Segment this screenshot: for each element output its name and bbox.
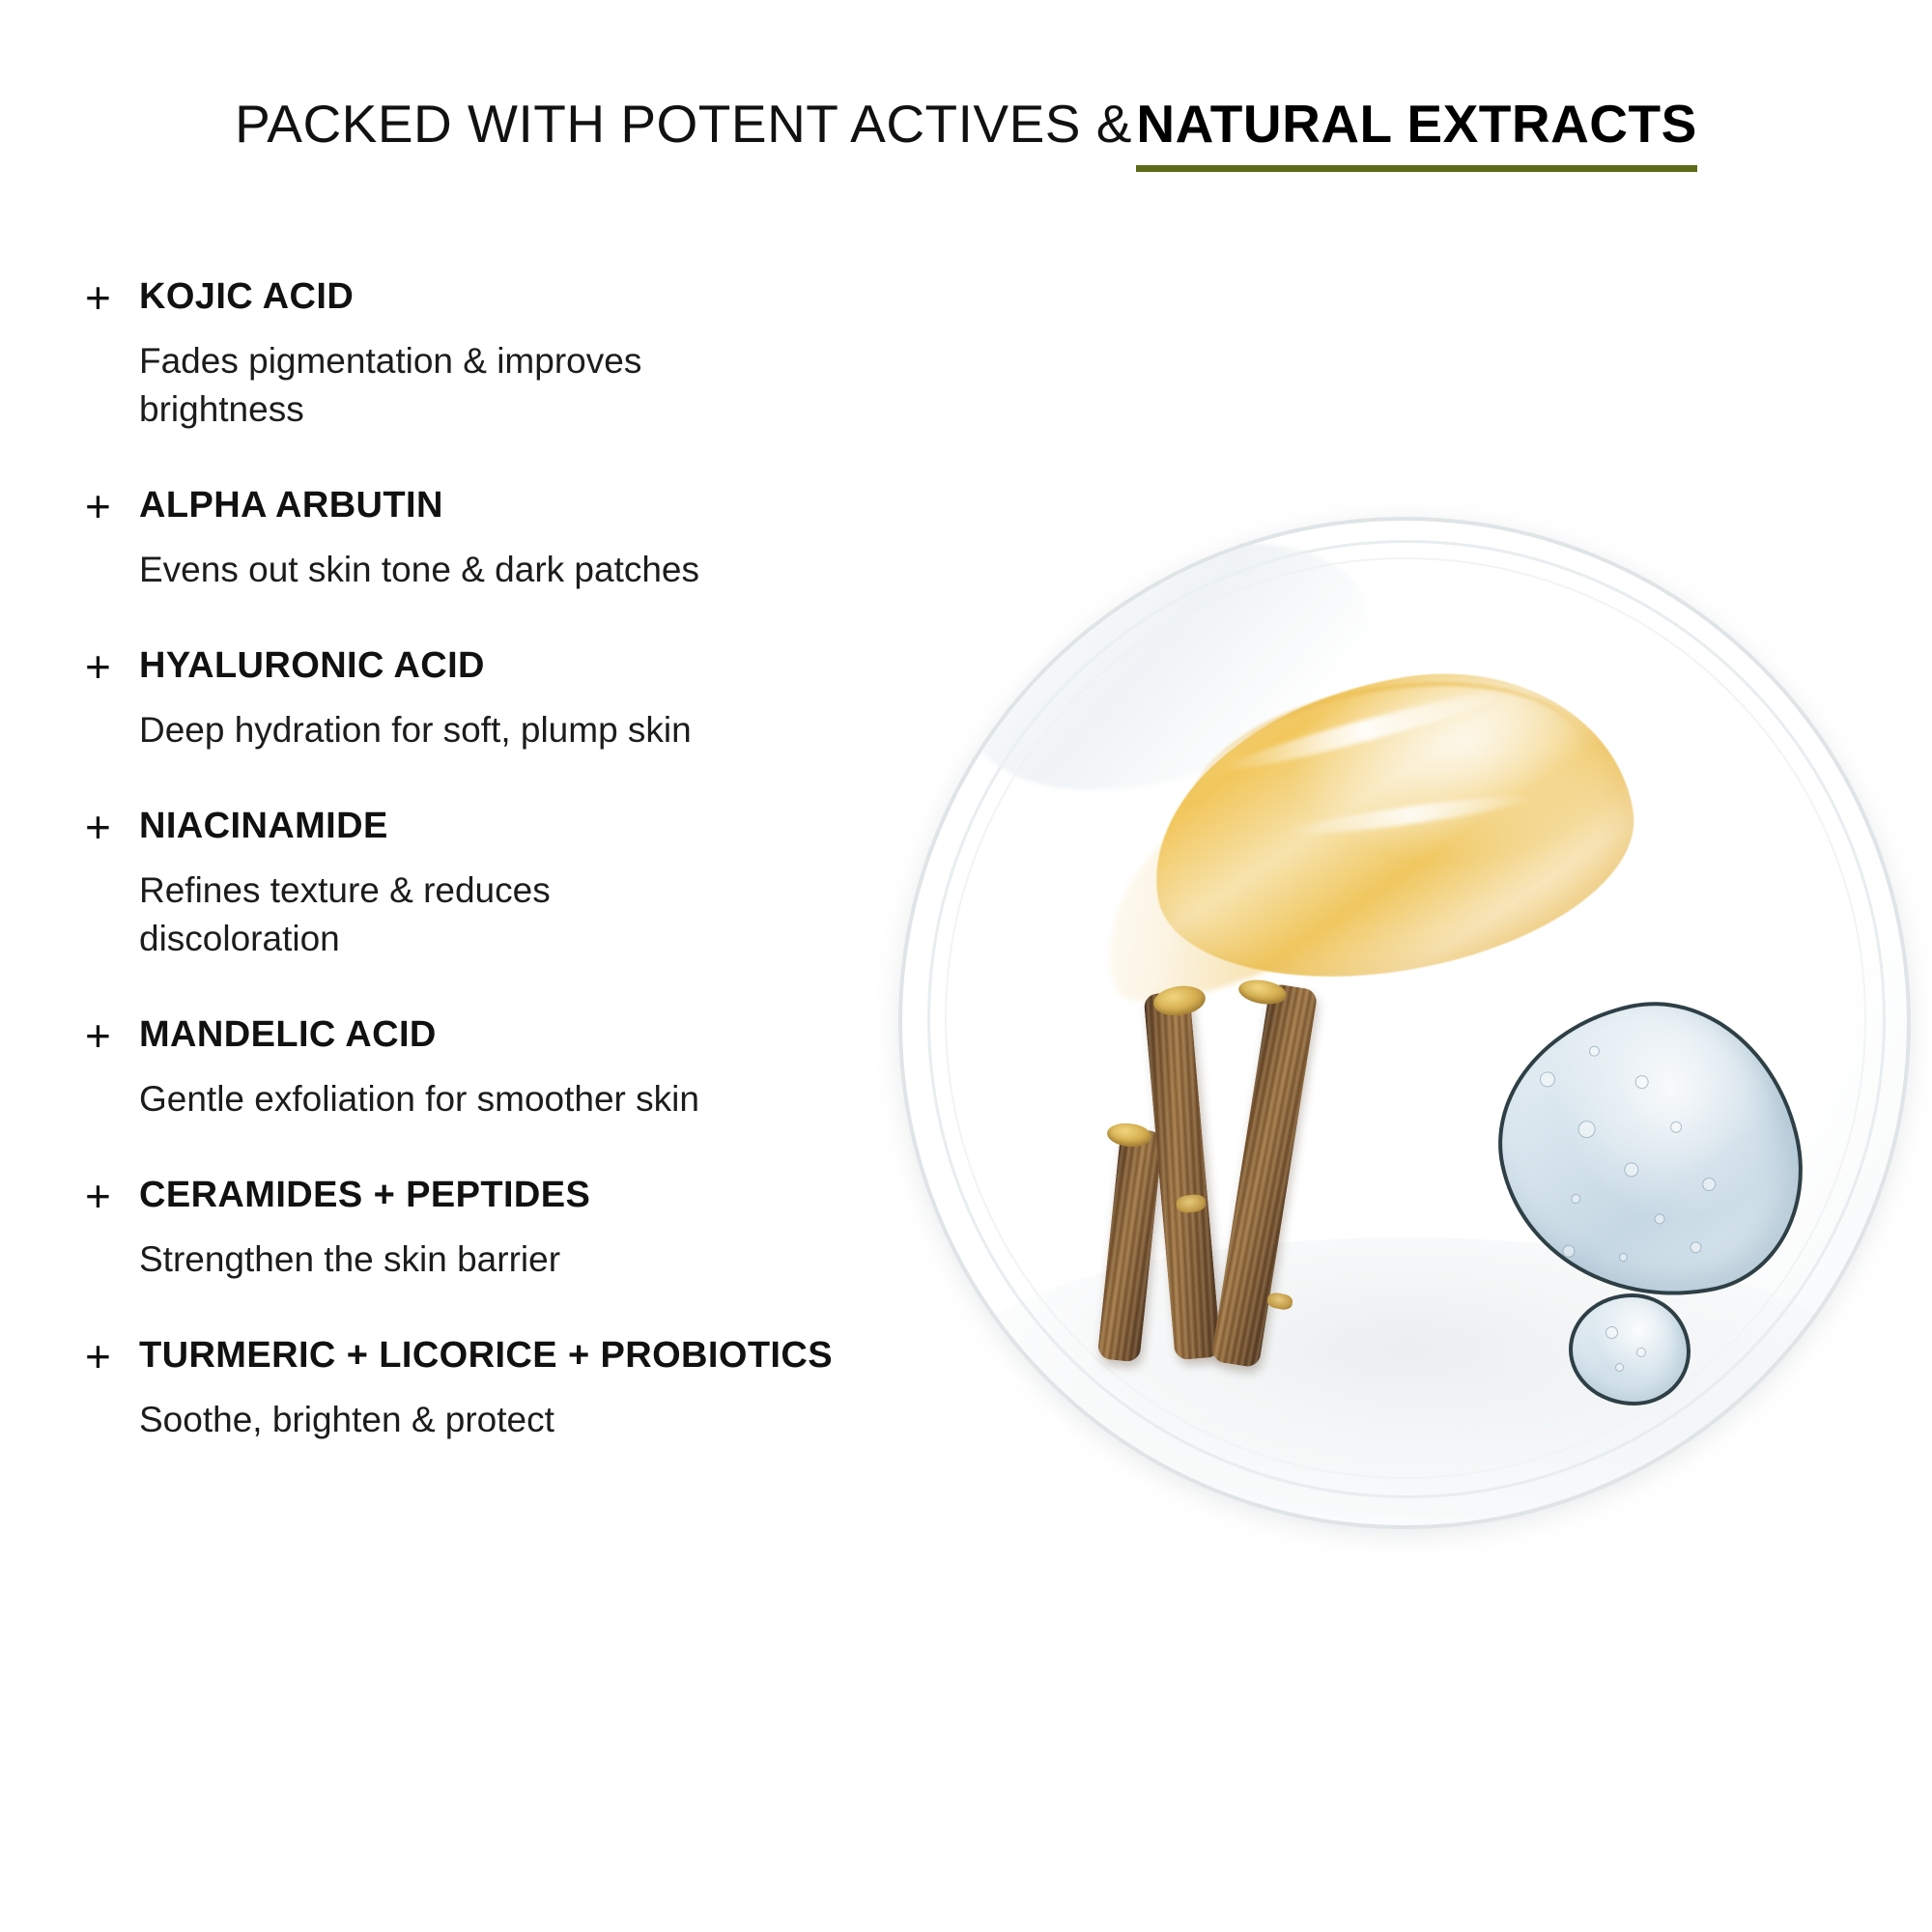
ingredient-description: Evens out skin tone & dark patches [139,546,796,594]
gel-bubble [1588,1045,1601,1058]
petri-dish [898,517,1911,1529]
list-item-head: + ALPHA ARBUTIN [85,484,954,528]
list-item: + NIACINAMIDE Refines texture & reduces … [85,805,954,963]
ingredient-description: Strengthen the skin barrier [139,1236,796,1284]
page-title: PACKED WITH POTENT ACTIVES & NATURAL EXT… [0,93,1932,155]
gel-bubble [1618,1252,1629,1263]
licorice-root-stick [1210,983,1318,1369]
plus-icon: + [85,644,139,689]
list-item-head: + HYALURONIC ACID [85,644,954,689]
ingredient-list: + KOJIC ACID Fades pigmentation & improv… [85,275,954,1494]
blue-gel-droplet [1569,1293,1690,1406]
gel-bubble [1689,1240,1702,1254]
ingredient-name: KOJIC ACID [139,275,354,318]
ingredient-name: HYALURONIC ACID [139,644,485,687]
ingredient-description: Refines texture & reduces discoloration [139,867,680,963]
licorice-root-notch [1266,1292,1293,1311]
list-item: + ALPHA ARBUTIN Evens out skin tone & da… [85,484,954,594]
gel-bubble [1570,1193,1581,1205]
gel-bubble [1701,1177,1718,1193]
list-item: + KOJIC ACID Fades pigmentation & improv… [85,275,954,434]
plus-icon: + [85,805,139,849]
list-item-head: + NIACINAMIDE [85,805,954,849]
ingredient-description: Gentle exfoliation for smoother skin [139,1075,767,1123]
licorice-root-stick [1097,1127,1164,1362]
plus-icon: + [85,484,139,528]
ingredient-description: Deep hydration for soft, plump skin [139,706,796,754]
list-item-head: + TURMERIC + LICORICE + PROBIOTICS [85,1334,954,1378]
gel-bubble [1561,1244,1576,1259]
gel-bubble [1669,1121,1683,1134]
plus-icon: + [85,1334,139,1378]
page-title-strong: NATURAL EXTRACTS [1136,94,1696,172]
list-item-head: + CERAMIDES + PEPTIDES [85,1174,954,1218]
ingredient-description: Fades pigmentation & improves brightness [139,337,796,434]
ingredient-name: TURMERIC + LICORICE + PROBIOTICS [139,1334,833,1377]
gel-bubble [1654,1212,1666,1225]
gel-bubble [1605,1326,1618,1339]
list-item: + TURMERIC + LICORICE + PROBIOTICS Sooth… [85,1334,954,1444]
gel-bubble [1634,1074,1650,1091]
petri-dish-image [898,517,1932,1555]
plus-icon: + [85,1174,139,1218]
gel-bubble [1577,1119,1597,1139]
page-title-light: PACKED WITH POTENT ACTIVES & [235,94,1132,154]
gel-bubble [1538,1070,1556,1089]
ingredient-name: NIACINAMIDE [139,805,388,847]
serum-swatch [1086,644,1646,1021]
list-item-head: + KOJIC ACID [85,275,954,320]
ingredient-name: MANDELIC ACID [139,1013,437,1056]
ingredient-name: ALPHA ARBUTIN [139,484,443,526]
licorice-root-group [1095,984,1414,1361]
ingredient-description: Soothe, brighten & protect [139,1396,796,1444]
gel-bubble [1623,1161,1640,1179]
list-item-head: + MANDELIC ACID [85,1013,954,1058]
gel-bubble [1615,1363,1624,1372]
ingredient-name: CERAMIDES + PEPTIDES [139,1174,590,1216]
list-item: + MANDELIC ACID Gentle exfoliation for s… [85,1013,954,1123]
list-item: + HYALURONIC ACID Deep hydration for sof… [85,644,954,754]
list-item: + CERAMIDES + PEPTIDES Strengthen the sk… [85,1174,954,1284]
plus-icon: + [85,275,139,320]
gel-bubble [1636,1348,1646,1357]
plus-icon: + [85,1013,139,1058]
